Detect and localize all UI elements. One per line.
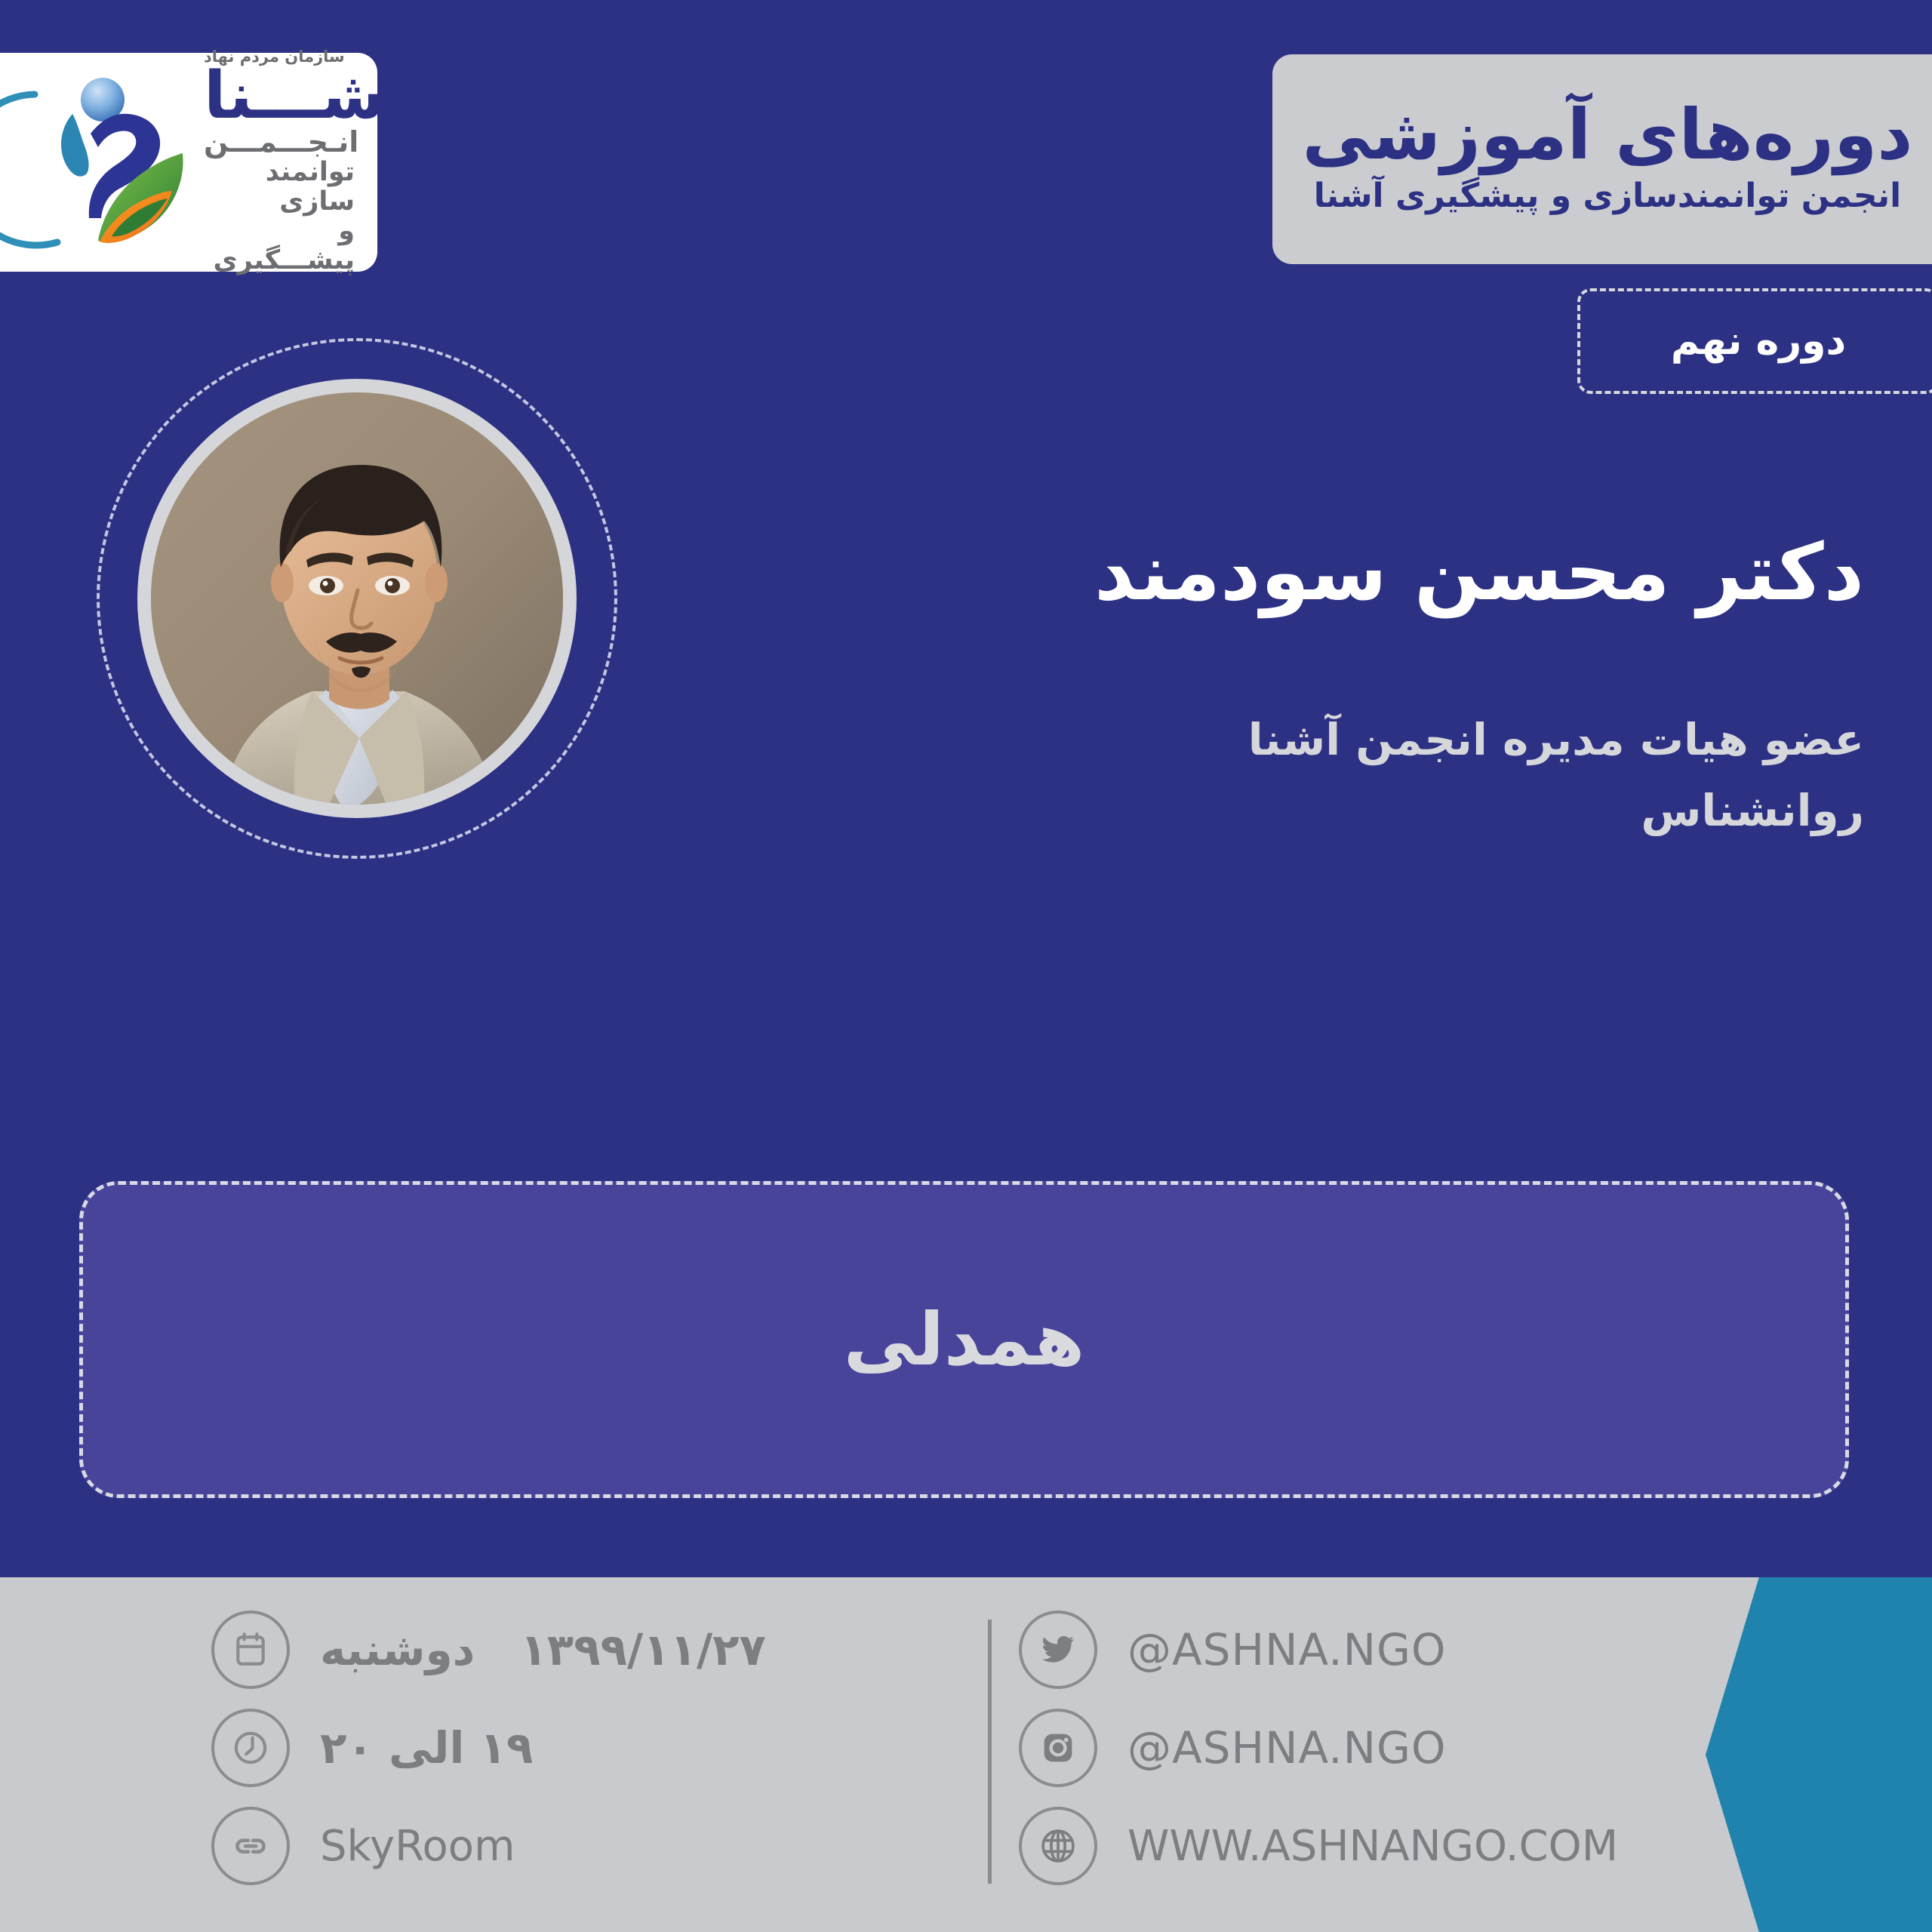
instagram-icon[interactable]: [1019, 1709, 1097, 1787]
logo-subline-3: و پیشـــگیری: [204, 217, 355, 275]
social-row-twitter[interactable]: @ASHNA.NGO: [1019, 1611, 1781, 1689]
schedule-weekday: دوشنبه: [320, 1624, 475, 1675]
speaker-role-1: عضو هیات مدیره انجمن آشنا: [792, 705, 1864, 776]
social-links-list: @ASHNA.NGO @ASHNA.NGO: [1019, 1611, 1781, 1885]
instagram-handle: @ASHNA.NGO: [1128, 1722, 1447, 1774]
avatar: [151, 392, 563, 804]
speaker-role-list: عضو هیات مدیره انجمن آشنا روانشناس: [792, 705, 1864, 847]
schedule-date-value: ۱۳۹۹/۱۱/۲۷: [520, 1624, 766, 1675]
logo-subline-1: انـجـــمـــن: [204, 128, 358, 158]
schedule-row-platform[interactable]: SkyRoom: [211, 1807, 981, 1885]
logo-wordmark: سازمان مردم نهاد آشـــنا انـجـــمـــن تو…: [204, 49, 355, 276]
schedule-platform-value: SkyRoom: [320, 1822, 515, 1871]
calendar-icon: [211, 1611, 290, 1689]
page-subtitle: انجمن توانمندسازی و پیشگیری آشنا: [1314, 177, 1901, 217]
footer-bar: ۱۳۹۹/۱۱/۲۷ دوشنبه ۱۹ الی ۲۰: [0, 1577, 1932, 1932]
course-number-badge: دوره نهم: [1577, 288, 1932, 394]
poster-canvas: سازمان مردم نهاد آشـــنا انـجـــمـــن تو…: [0, 0, 1932, 1932]
session-topic-box: همدلی: [79, 1181, 1849, 1498]
twitter-handle: @ASHNA.NGO: [1128, 1624, 1447, 1675]
ashna-leaf-person-logo-icon: [0, 64, 199, 260]
social-row-instagram[interactable]: @ASHNA.NGO: [1019, 1709, 1781, 1787]
clock-icon: [211, 1709, 290, 1787]
link-icon[interactable]: [211, 1807, 290, 1885]
logo-brand-name: آشـــنا: [204, 66, 408, 126]
twitter-icon[interactable]: [1019, 1611, 1097, 1689]
course-number-label: دوره نهم: [1671, 318, 1846, 364]
schedule-row-time: ۱۹ الی ۲۰: [211, 1709, 981, 1787]
website-url: WWW.ASHNANGO.COM: [1128, 1822, 1618, 1871]
session-topic-title: همدلی: [844, 1297, 1085, 1382]
globe-icon[interactable]: [1019, 1807, 1097, 1885]
header-banner: دوره‌های آموزشی انجمن توانمندسازی و پیشگ…: [1272, 54, 1932, 264]
speaker-portrait: [97, 338, 617, 859]
speaker-name: دکتر محسن سودمند: [792, 528, 1864, 616]
speaker-role-2: روانشناس: [792, 776, 1864, 847]
page-title: دوره‌های آموزشی: [1302, 99, 1912, 172]
schedule-row-date: ۱۳۹۹/۱۱/۲۷ دوشنبه: [211, 1611, 981, 1689]
schedule-date-line: ۱۳۹۹/۱۱/۲۷ دوشنبه: [320, 1624, 766, 1675]
session-schedule-list: ۱۳۹۹/۱۱/۲۷ دوشنبه ۱۹ الی ۲۰: [211, 1611, 981, 1885]
social-row-website[interactable]: WWW.ASHNANGO.COM: [1019, 1807, 1781, 1885]
schedule-time-value: ۱۹ الی ۲۰: [320, 1722, 533, 1774]
logo-subline-2: توانمند سازی: [204, 158, 355, 217]
speaker-info: دکتر محسن سودمند عضو هیات مدیره انجمن آش…: [792, 528, 1864, 847]
organization-logo-card: سازمان مردم نهاد آشـــنا انـجـــمـــن تو…: [0, 53, 377, 272]
footer-divider: [988, 1620, 992, 1884]
